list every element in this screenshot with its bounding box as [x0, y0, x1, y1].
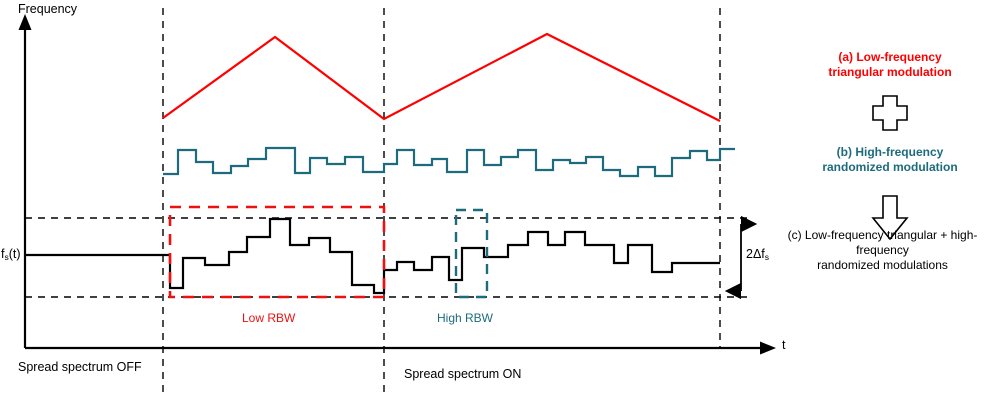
x-axis	[25, 342, 776, 355]
high-rbw-box	[456, 210, 487, 297]
horizontal-dashed-guides	[25, 218, 752, 297]
high-rbw-label: High RBW	[437, 311, 493, 325]
diagram-root: Frequency t fs(t) 2Δfs Low RBW High RBW …	[0, 0, 985, 400]
combined-modulation-curve	[25, 219, 720, 293]
vertical-dashed-guides	[163, 8, 720, 396]
plus-icon	[873, 96, 907, 130]
delta-fs-prefix: 2Δf	[746, 247, 765, 261]
x-axis-title: t	[782, 338, 785, 352]
triangular-modulation-curve	[163, 34, 720, 121]
y-axis-title: Frequency	[18, 2, 77, 16]
legend-a-line2: triangular modulation	[795, 65, 985, 80]
legend-c-line2: randomized modulations	[780, 258, 985, 273]
spread-spectrum-off-label: Spread spectrum OFF	[18, 360, 142, 374]
legend-c-line1: (c) Low-frequency triangular + high-freq…	[780, 228, 985, 258]
legend-item-b: (b) High-frequency randomized modulation	[795, 145, 985, 175]
fs-label-tail: (t)	[9, 247, 21, 261]
fs-label: fs(t)	[1, 247, 21, 261]
legend-a-line1: (a) Low-frequency	[795, 50, 985, 65]
delta-fs-label: 2Δfs	[746, 247, 769, 261]
low-rbw-label: Low RBW	[242, 311, 295, 325]
legend-item-c: (c) Low-frequency triangular + high-freq…	[780, 228, 985, 273]
y-axis	[19, 14, 32, 348]
legend-b-line1: (b) High-frequency	[795, 145, 985, 160]
y-axis-arrowhead	[19, 14, 32, 30]
legend-b-line2: randomized modulation	[795, 160, 985, 175]
fs-label-sub: s	[4, 252, 8, 262]
spread-spectrum-on-label: Spread spectrum ON	[404, 367, 521, 381]
x-axis-arrowhead	[760, 342, 776, 355]
randomized-modulation-curve	[163, 148, 735, 176]
delta-fs-sub: s	[765, 252, 769, 262]
legend-item-a: (a) Low-frequency triangular modulation	[795, 50, 985, 80]
